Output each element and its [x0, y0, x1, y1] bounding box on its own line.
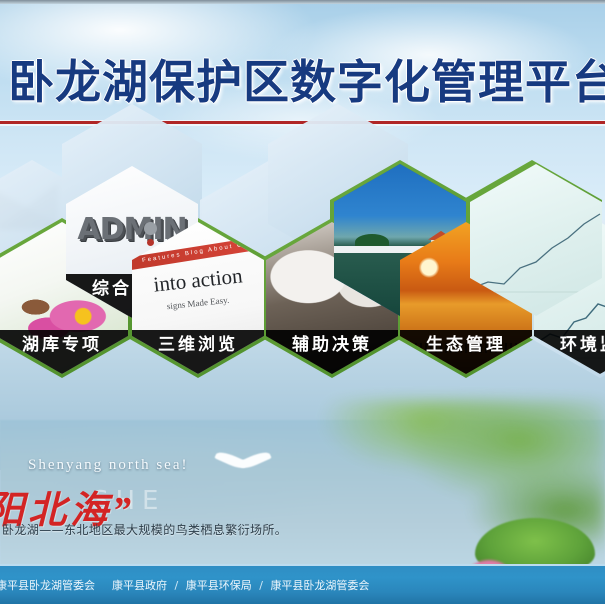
hex-label-fuzhu-juece: 辅助决策 — [266, 330, 398, 374]
page-title: 卧龙湖保护区数字化管理平台 — [0, 54, 605, 110]
footer-row: 康平县卧龙湖管委会 康平县政府 / 康平县环保局 / 康平县卧龙湖管委会 — [0, 577, 605, 595]
footer-bar: 康平县卧龙湖管委会 康平县政府 / 康平县环保局 / 康平县卧龙湖管委会 — [0, 564, 605, 604]
page-root: 卧龙湖保护区数字化管理平台 湖库专项 ADMIN 综合管理 — [0, 0, 605, 604]
promo-english-slogan: Shenyang north sea! — [28, 457, 188, 474]
hex-label-sanwei-liulan: 三维浏览 — [132, 330, 264, 374]
hex-label-shengtai-guanli: 生态管理 — [400, 330, 532, 374]
footer-owner: 康平县卧龙湖管委会 — [0, 577, 95, 593]
footer-separator: / — [175, 579, 179, 592]
admin-figure-icon — [144, 222, 157, 235]
top-edge-bar — [0, 0, 605, 4]
promo-description: 卧龙湖——东北地区最大规模的鸟类栖息繁衍场所。 — [2, 521, 287, 538]
seagull-icon — [215, 455, 271, 485]
hexagon-menu-grid: 湖库专项 ADMIN 综合管理 辅助决策 Features Blog About… — [0, 126, 605, 446]
footer-separator: / — [259, 579, 263, 592]
hex-label-huanjing-jiance: 环境监测 — [534, 330, 605, 374]
footer-links: 康平县政府 / 康平县环保局 / 康平县卧龙湖管委会 — [110, 577, 371, 593]
footer-link-epb[interactable]: 康平县环保局 — [186, 579, 252, 592]
footer-link-committee[interactable]: 康平县卧龙湖管委会 — [270, 579, 369, 592]
footer-link-government[interactable]: 康平县政府 — [112, 579, 167, 592]
